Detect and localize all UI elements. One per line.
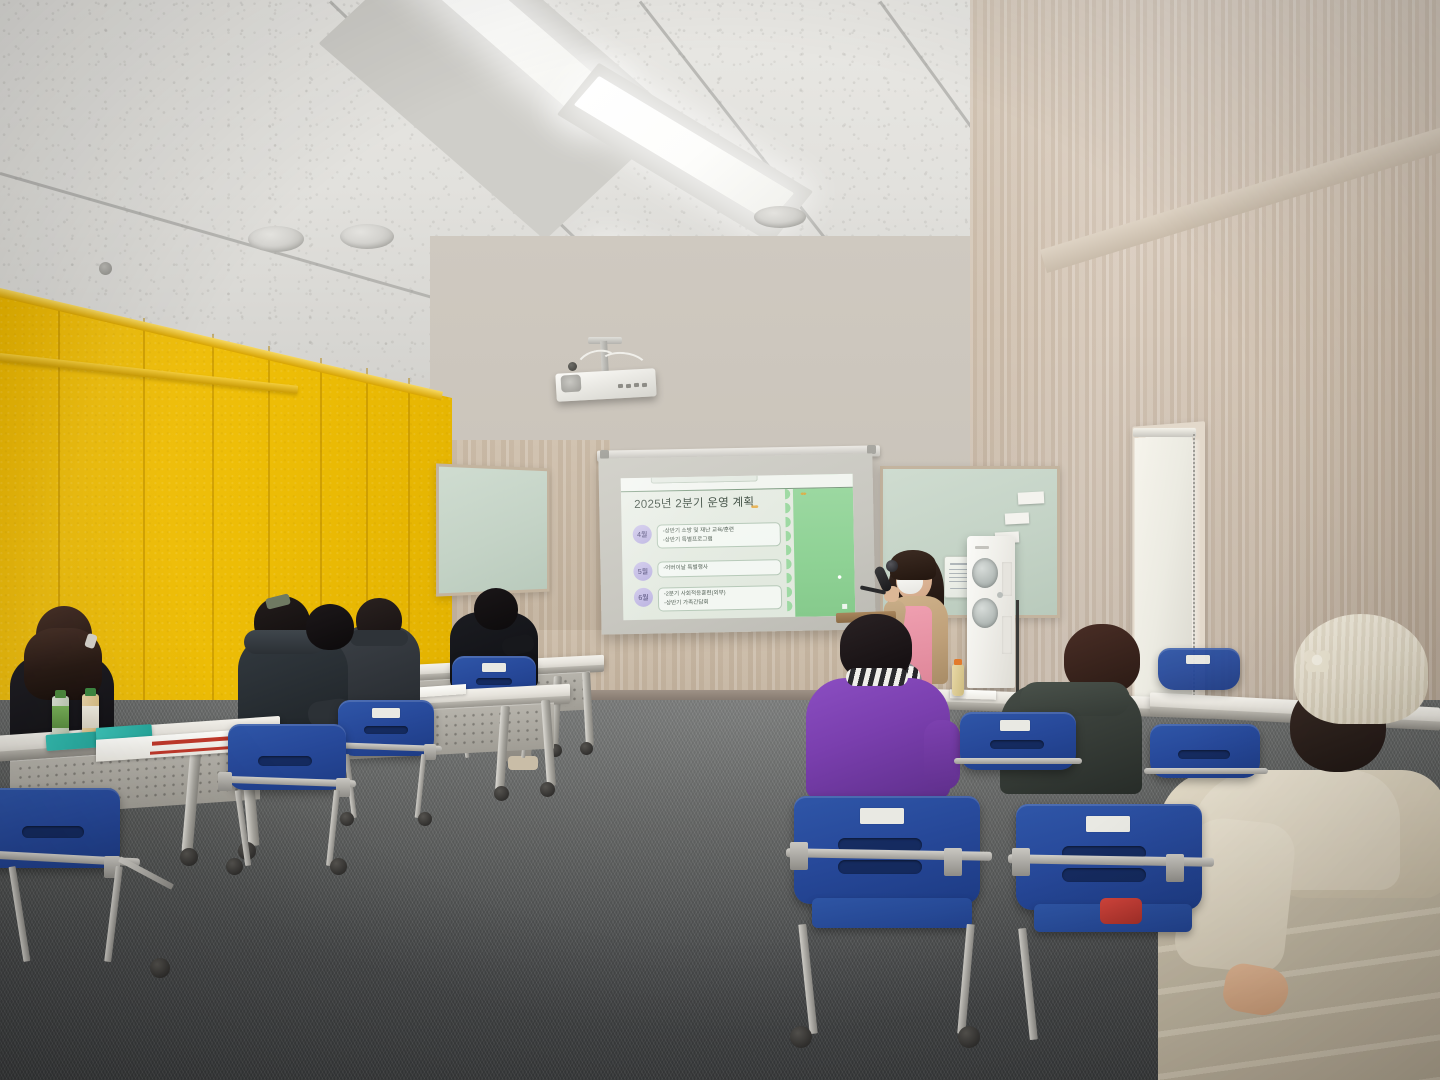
ac-panel-slit	[1002, 616, 1012, 654]
bottle-cap[interactable]	[954, 659, 962, 665]
slide-sparkle	[842, 604, 847, 609]
chair-label	[1186, 655, 1210, 664]
slide-row-box: -2분기 사회적응훈련(외부) -상반기 가족간담회	[658, 585, 782, 611]
slide-row-box: -상반기 소방 및 재난 교육/훈련 -상반기 특별프로그램	[657, 522, 781, 548]
chair-bracket	[1012, 848, 1030, 876]
chair-bar	[954, 758, 1082, 764]
butterfly-decoration	[801, 491, 807, 496]
desk-caster	[494, 786, 509, 801]
bottle-label	[82, 706, 99, 728]
chair-caster	[418, 812, 432, 826]
microphone-head	[886, 560, 898, 572]
chair-slot	[476, 678, 512, 685]
desk-caster	[540, 782, 555, 797]
attendee-right-olive-hood	[1020, 682, 1130, 716]
projector-port	[626, 384, 631, 388]
chair-label	[372, 708, 400, 718]
whiteboard-card	[1005, 512, 1030, 524]
roller-blind-headrail[interactable]	[1133, 428, 1196, 437]
wall-panel-seam	[212, 334, 214, 712]
butterfly-decoration	[751, 504, 758, 510]
slide-row: 5월 -어버이날 특별행사	[633, 559, 781, 581]
slide-line: -상반기 가족간담회	[664, 597, 776, 608]
attendee-right-purple-arm	[924, 720, 960, 790]
slide-row: 4월 -상반기 소방 및 재난 교육/훈련 -상반기 특별프로그램	[633, 522, 781, 549]
chair-label	[482, 663, 506, 672]
chair-slot	[838, 860, 922, 874]
chair-back[interactable]	[1158, 648, 1240, 690]
ceiling-speaker	[248, 226, 304, 252]
red-item-on-chair	[1100, 898, 1142, 924]
hat-flower-pin	[1304, 648, 1330, 672]
slide-line: -상반기 특별프로그램	[663, 534, 775, 545]
ac-vent-upper	[972, 558, 998, 588]
ac-control-button[interactable]	[997, 592, 1003, 598]
whiteboard-card	[1018, 491, 1045, 504]
slide-content: 2025년 2분기 운영 계획 4월 -상반기 소방 및 재난 교육/훈련 -상…	[621, 474, 856, 620]
chair-bracket	[944, 848, 962, 876]
chair-bracket	[790, 842, 808, 870]
ceiling-speaker	[754, 206, 806, 228]
slide-sparkle	[837, 574, 843, 580]
chair-label	[1086, 816, 1130, 832]
slide-row: 6월 -2분기 사회적응훈련(외부) -상반기 가족간담회	[634, 585, 782, 612]
attendee-left-5-head	[474, 588, 518, 630]
slide-month-badge: 4월	[633, 525, 652, 544]
chair-caster	[150, 958, 170, 978]
slide-title: 2025년 2분기 운영 계획	[634, 493, 784, 512]
ac-panel-slit	[1002, 562, 1012, 596]
chair-slot	[258, 756, 312, 766]
slide-month-badge: 6월	[634, 588, 653, 607]
projector-port	[618, 384, 623, 388]
classroom-photo: 2025년 2분기 운영 계획 4월 -상반기 소방 및 재난 교육/훈련 -상…	[0, 0, 1440, 1080]
ac-power-cable	[1016, 600, 1019, 692]
slide-row-box: -어버이날 특별행사	[657, 559, 781, 577]
desk-caster	[180, 848, 198, 866]
whiteboard-left	[436, 463, 549, 596]
chair-slot	[364, 726, 408, 734]
attendee-right-purple-scarf	[846, 668, 908, 686]
chair-caster	[958, 1026, 980, 1048]
slide-month-badge: 5월	[633, 562, 652, 581]
chair-caster	[226, 858, 243, 875]
notice-text-line	[950, 588, 967, 589]
desk-caster	[580, 742, 593, 755]
chair-slot	[990, 740, 1044, 749]
chair-bar	[1144, 768, 1268, 774]
chair-bracket	[218, 772, 232, 791]
ac-brand-label	[975, 546, 989, 549]
chair-label	[1000, 720, 1030, 731]
chair-slot	[1062, 868, 1146, 882]
slide-line: -어버이날 특별행사	[663, 562, 775, 573]
chair-bracket	[1166, 854, 1184, 882]
attendee-left-4-collar	[350, 630, 408, 646]
chair-slot	[22, 826, 84, 838]
bottle-cap[interactable]	[85, 688, 96, 696]
projector-port	[634, 383, 639, 387]
projector-port	[642, 383, 647, 387]
attendee-left-5-shoe	[508, 756, 538, 770]
chair-slot	[1178, 750, 1230, 759]
standing-air-conditioner[interactable]	[967, 536, 1015, 688]
projector-lens	[561, 374, 582, 392]
chair-caster	[340, 812, 354, 826]
projector-focus-knob	[568, 362, 577, 371]
bottle-label	[52, 706, 69, 728]
attendee-left-2-head	[306, 604, 354, 650]
ac-vent-lower	[972, 598, 998, 628]
chair-caster	[790, 1026, 812, 1048]
ceiling-speaker	[340, 224, 394, 249]
bottle-cap[interactable]	[55, 690, 66, 698]
chair-label	[860, 808, 904, 824]
chair-caster	[330, 858, 347, 875]
chair-seat[interactable]	[812, 898, 972, 928]
drink-bottle[interactable]	[952, 664, 964, 696]
ceiling-sprinkler	[99, 262, 112, 275]
